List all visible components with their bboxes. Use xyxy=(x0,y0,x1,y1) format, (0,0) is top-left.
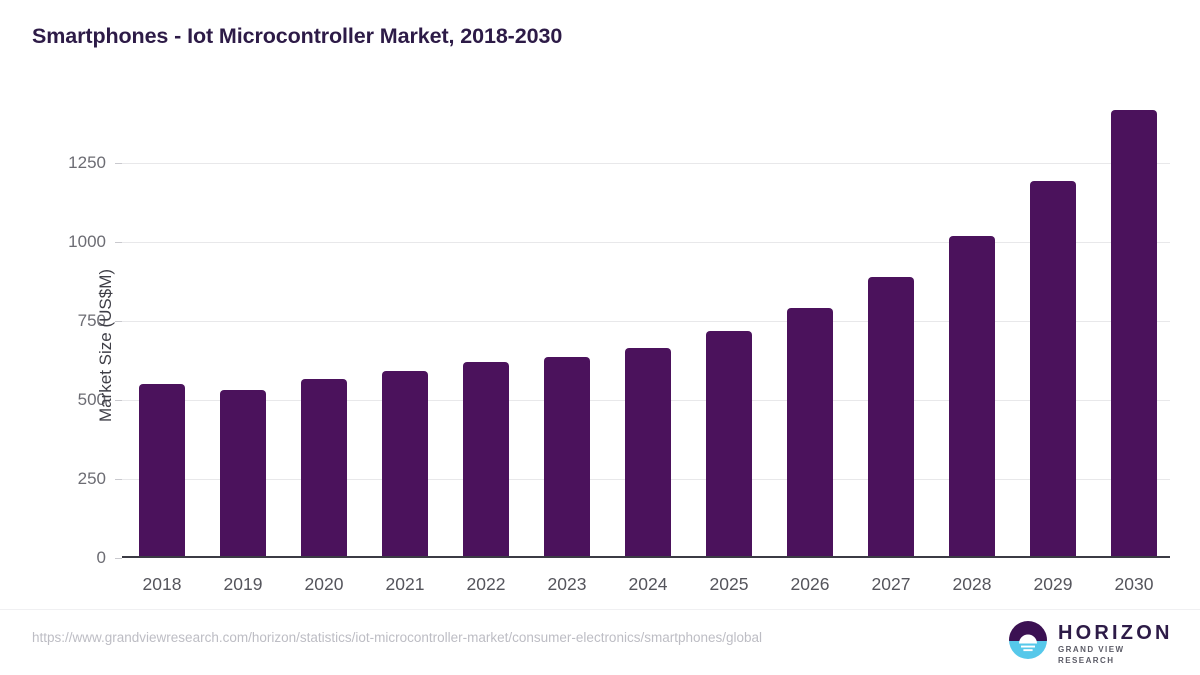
y-tick-mark xyxy=(115,558,122,559)
x-axis-tick-label: 2020 xyxy=(284,574,364,595)
gridline xyxy=(122,242,1170,243)
logo-tagline: GRAND VIEW RESEARCH xyxy=(1058,644,1173,666)
x-axis-tick-label: 2021 xyxy=(365,574,445,595)
bar[interactable] xyxy=(868,277,914,557)
bar[interactable] xyxy=(463,362,509,557)
y-tick-label: 1250 xyxy=(68,153,106,173)
x-axis-tick-label: 2022 xyxy=(446,574,526,595)
bar[interactable] xyxy=(382,371,428,557)
gridline xyxy=(122,321,1170,322)
gridline xyxy=(122,163,1170,164)
x-axis-tick-label: 2030 xyxy=(1094,574,1174,595)
logo-text: HORIZON GRAND VIEW RESEARCH xyxy=(1058,622,1173,666)
x-axis-tick-label: 2026 xyxy=(770,574,850,595)
x-axis-tick-label: 2028 xyxy=(932,574,1012,595)
y-tick-label: 0 xyxy=(97,548,106,568)
bar[interactable] xyxy=(949,236,995,557)
x-axis-tick-label: 2027 xyxy=(851,574,931,595)
logo-wordmark: HORIZON xyxy=(1058,622,1173,644)
y-tick-label: 250 xyxy=(78,469,106,489)
page-title: Smartphones - Iot Microcontroller Market… xyxy=(32,24,562,49)
x-axis-line xyxy=(122,556,1170,558)
chart-screenshot: Smartphones - Iot Microcontroller Market… xyxy=(0,0,1200,675)
x-axis-tick-label: 2025 xyxy=(689,574,769,595)
x-axis-tick-label: 2018 xyxy=(122,574,202,595)
bar[interactable] xyxy=(787,308,833,557)
source-url[interactable]: https://www.grandviewresearch.com/horizo… xyxy=(32,630,762,645)
plot-area: 025050075010001250 Market Size (US$M) xyxy=(122,100,1170,558)
bar[interactable] xyxy=(706,331,752,557)
x-axis-tick-label: 2019 xyxy=(203,574,283,595)
y-axis-title: Market Size (US$M) xyxy=(96,269,116,422)
x-axis-tick-label: 2029 xyxy=(1013,574,1093,595)
bar[interactable] xyxy=(139,384,185,557)
bar[interactable] xyxy=(544,357,590,557)
gridline xyxy=(122,558,1170,559)
y-tick-mark xyxy=(115,242,122,243)
bar[interactable] xyxy=(301,379,347,557)
x-axis-tick-label: 2023 xyxy=(527,574,607,595)
y-tick-mark xyxy=(115,163,122,164)
y-tick-mark xyxy=(115,400,122,401)
bar[interactable] xyxy=(625,348,671,557)
bar[interactable] xyxy=(1111,110,1157,557)
bar[interactable] xyxy=(1030,181,1076,557)
y-tick-mark xyxy=(115,321,122,322)
x-axis-tick-label: 2024 xyxy=(608,574,688,595)
y-tick-mark xyxy=(115,479,122,480)
horizon-sun-icon xyxy=(1008,620,1048,660)
bar[interactable] xyxy=(220,390,266,557)
horizon-logo[interactable]: HORIZON GRAND VIEW RESEARCH xyxy=(1008,618,1168,662)
y-tick-label: 1000 xyxy=(68,232,106,252)
footer-divider xyxy=(0,609,1200,610)
